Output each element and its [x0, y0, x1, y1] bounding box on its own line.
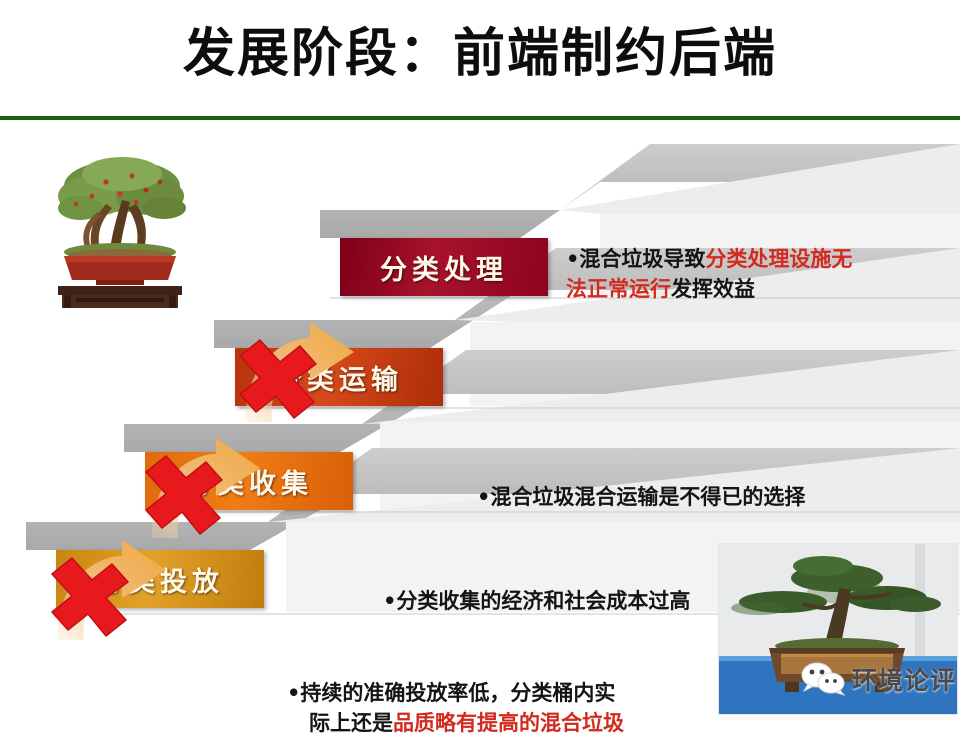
bullet-line: 际上还是品质略有提高的混合垃圾	[287, 708, 624, 738]
page-title: 发展阶段：前端制约后端	[0, 18, 960, 90]
slide-header: 发展阶段：前端制约后端	[0, 0, 960, 118]
slide-root: 发展阶段：前端制约后端	[0, 0, 960, 720]
watermark-label: 环境论评	[852, 661, 956, 697]
bullet-plain: •分类收集的经济和社会成本过高	[383, 588, 690, 613]
bullet-plain: •混合垃圾混合运输是不得已的选择	[477, 484, 805, 509]
step-bullet-transport: •混合垃圾混合运输是不得已的选择	[477, 482, 805, 512]
step-bullet-collection: •分类收集的经济和社会成本过高	[383, 586, 690, 616]
bullet-highlight: 法正常运行	[566, 276, 671, 301]
step-label-text: 分类处理	[380, 248, 508, 287]
bullet-highlight: 品质略有提高的混合垃圾	[393, 710, 624, 735]
bullet-line: •持续的准确投放率低，分类桶内实	[287, 678, 624, 708]
bullet-line: 法正常运行发挥效益	[566, 274, 852, 304]
title-divider	[0, 116, 960, 120]
bullet-plain: 际上还是	[309, 710, 393, 735]
blocked-arrow-collection	[44, 536, 174, 646]
bullet-line: •分类收集的经济和社会成本过高	[383, 586, 690, 616]
step-bullet-disposal: •持续的准确投放率低，分类桶内实 际上还是品质略有提高的混合垃圾	[287, 678, 624, 738]
blocked-arrow-transport	[138, 434, 268, 544]
bullet-plain: 发挥效益	[671, 276, 755, 301]
bullet-highlight: 分类处理设施无	[705, 246, 852, 271]
blocked-arrow-treatment	[232, 318, 362, 428]
step-label-box-treatment[interactable]: 分类处理	[340, 238, 548, 296]
watermark: 环境论评	[800, 655, 960, 703]
bullet-line: •混合垃圾导致分类处理设施无	[566, 244, 852, 274]
bullet-line: •混合垃圾混合运输是不得已的选择	[477, 482, 805, 512]
bullet-plain: •混合垃圾导致	[566, 246, 705, 271]
flowering-bonsai-photo	[36, 138, 204, 310]
wechat-icon	[800, 662, 846, 696]
bullet-plain: •持续的准确投放率低，分类桶内实	[287, 680, 615, 705]
step-bullet-treatment: •混合垃圾导致分类处理设施无 法正常运行发挥效益	[566, 244, 852, 304]
